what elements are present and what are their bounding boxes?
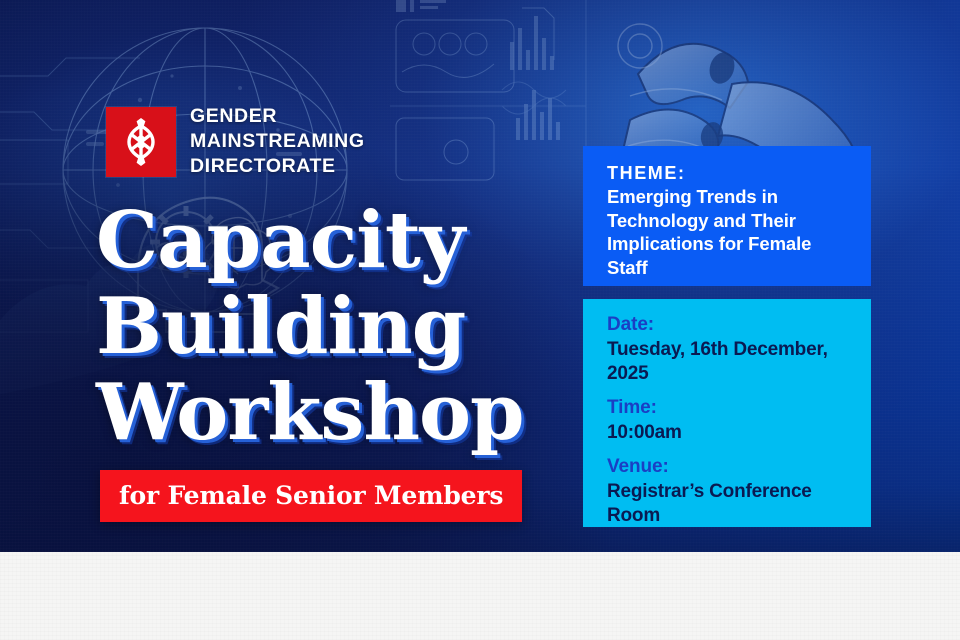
logo-badge <box>106 107 176 177</box>
detail-time-label: Time: <box>607 395 847 421</box>
organization-logo-lockup: GENDER MAINSTREAMING DIRECTORATE <box>106 104 365 179</box>
event-details-card: Date: Tuesday, 16th December, 2025 Time:… <box>583 299 871 527</box>
theme-label: THEME: <box>607 161 847 185</box>
detail-time: Time: 10:00am <box>607 395 847 445</box>
detail-venue-value: Registrar’s Conference Room <box>607 480 847 528</box>
poster-canvas: GENDER MAINSTREAMING DIRECTORATE Capacit… <box>0 0 960 640</box>
headline-line-2: Building <box>96 284 566 370</box>
bottom-strip <box>0 552 960 640</box>
headline-line-3: Workshop <box>96 370 566 456</box>
detail-date-label: Date: <box>607 312 847 338</box>
headline-line-1: Capacity <box>96 198 566 284</box>
theme-text: Emerging Trends in Technology and Their … <box>607 185 847 279</box>
detail-date-value: Tuesday, 16th December, 2025 <box>607 338 847 386</box>
detail-time-value: 10:00am <box>607 421 847 445</box>
theme-card: THEME: Emerging Trends in Technology and… <box>583 146 871 286</box>
detail-date: Date: Tuesday, 16th December, 2025 <box>607 312 847 386</box>
page-title: Capacity Building Workshop <box>96 198 566 456</box>
organization-name: GENDER MAINSTREAMING DIRECTORATE <box>190 104 365 179</box>
detail-venue-label: Venue: <box>607 454 847 480</box>
detail-venue: Venue: Registrar’s Conference Room <box>607 454 847 528</box>
adinkra-gender-symbol-icon <box>118 117 164 167</box>
audience-banner: for Female Senior Members <box>100 470 522 522</box>
